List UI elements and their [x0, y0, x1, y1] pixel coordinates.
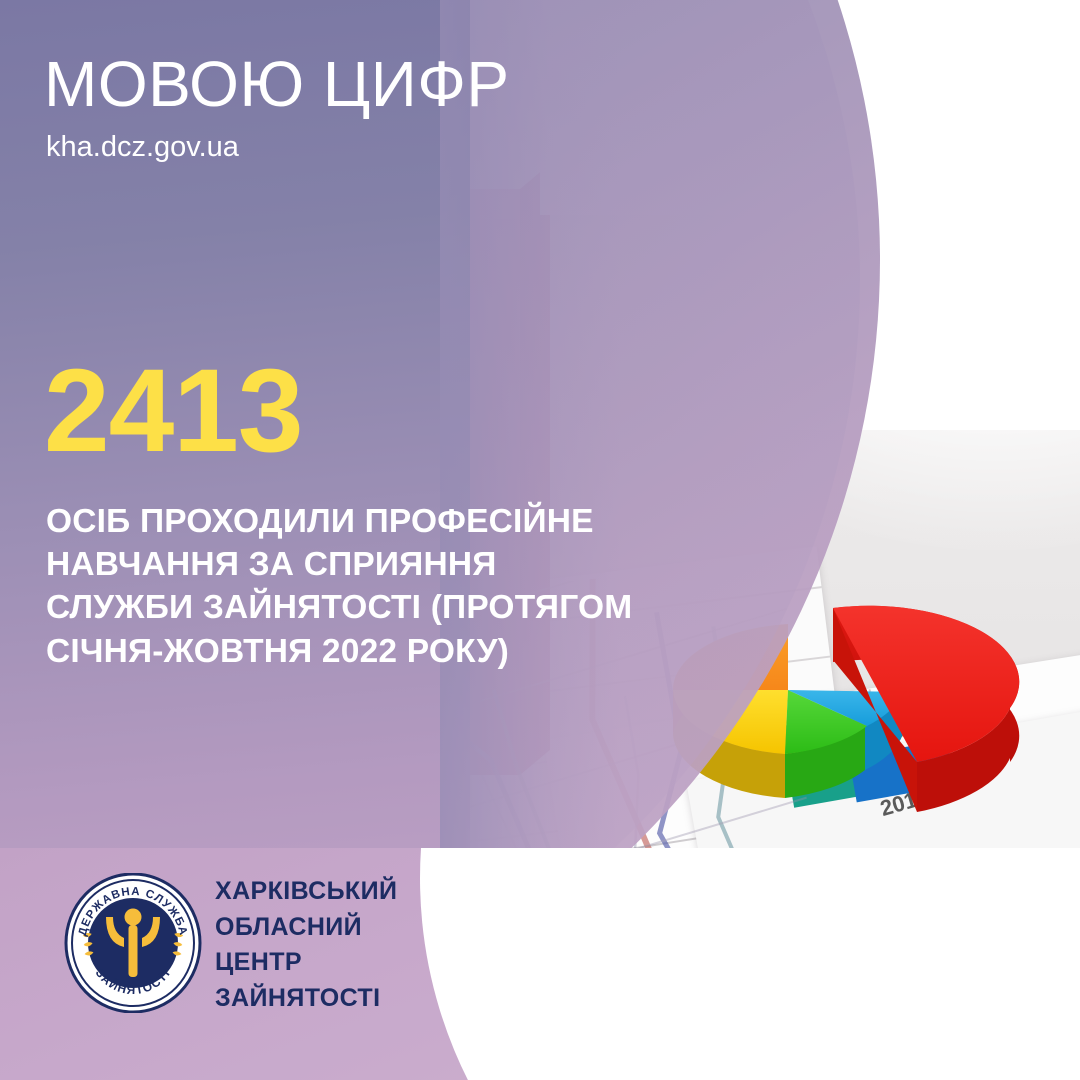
org-line: ХАРКІВСЬКИЙ: [215, 874, 397, 910]
site-url[interactable]: kha.dcz.gov.ua: [46, 133, 239, 162]
employment-service-logo[interactable]: ДЕРЖАВНА СЛУЖБА ЗАЙНЯТОСТІ: [63, 873, 203, 1013]
stat-description-line: ОСІБ ПРОХОДИЛИ ПРОФЕСІЙНЕ: [46, 500, 726, 543]
stat-description-line: СІЧНЯ-ЖОВТНЯ 2022 РОКУ): [46, 630, 726, 673]
stat-number: 2413: [44, 352, 303, 470]
stat-description-line: НАВЧАННЯ ЗА СПРИЯННЯ: [46, 543, 726, 586]
org-line: ОБЛАСНИЙ: [215, 910, 397, 946]
org-line: ЦЕНТР: [215, 945, 397, 981]
stat-description: ОСІБ ПРОХОДИЛИ ПРОФЕСІЙНЕ НАВЧАННЯ ЗА СП…: [46, 500, 726, 673]
page-title: МОВОЮ ЦИФР: [44, 52, 510, 116]
organization-name: ХАРКІВСЬКИЙ ОБЛАСНИЙ ЦЕНТР ЗАЙНЯТОСТІ: [215, 874, 397, 1016]
infographic-canvas: 2010 2011: [0, 0, 1080, 1080]
stat-description-line: СЛУЖБИ ЗАЙНЯТОСТІ (ПРОТЯГОМ: [46, 586, 726, 629]
org-line: ЗАЙНЯТОСТІ: [215, 981, 397, 1017]
